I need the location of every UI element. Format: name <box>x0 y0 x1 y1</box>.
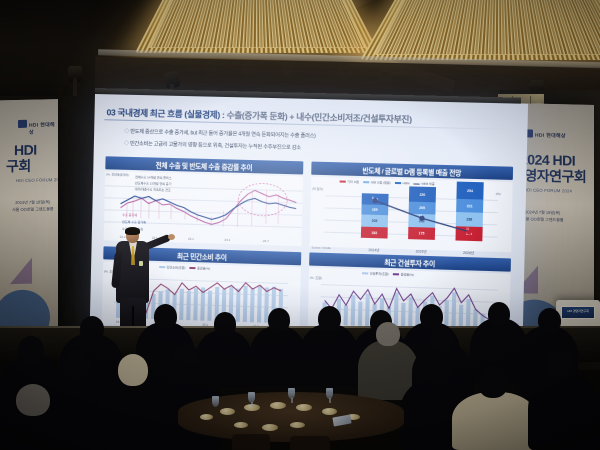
chair-back <box>290 436 330 450</box>
glass-stem <box>329 398 331 403</box>
table-plate <box>322 408 337 415</box>
table-plate <box>234 422 248 428</box>
slide-title-main: 국내경제 최근 흐름 (실물경제) <box>117 108 220 120</box>
legend-swatch-construction-rate <box>393 273 399 275</box>
legend-swatch-consumption-rate <box>189 267 195 269</box>
audience-head <box>430 326 454 352</box>
table-plate <box>262 424 278 431</box>
exports-annotation-1: 수출 증가세 <box>122 213 137 218</box>
audience-head <box>268 308 290 332</box>
audience-head <box>214 312 236 336</box>
slide-title-number: 03 <box>106 107 115 117</box>
audience-head-grey-hair <box>376 322 400 346</box>
conference-room-scene: HDI 현대해상 HDI 구회 HDI CEO FORUM 2024 2024년… <box>0 0 600 450</box>
panel-consumption-title: 최근 민간소비 추이 <box>177 250 227 262</box>
chandelier-left <box>135 0 379 53</box>
series-semiconductor-exports <box>120 187 296 227</box>
chandelier-right-crystals <box>375 0 600 55</box>
panel-dram: 반도체 / 글로벌 D램 등록별 매출 전망 기타 D램 서버 D램 (범용) <box>310 162 514 253</box>
slide-bullet-2-text: 민간소비는 고금리 고물가의 영향 등으로 위축, 건설투자는 누적된 수주부진… <box>130 141 301 151</box>
panel-dram-body: 기타 D램 서버 D램 (범용) HBM HBM 비중 <box>310 177 513 253</box>
glass-stem <box>291 398 293 403</box>
bullet-marker-icon: ◇ <box>124 141 129 147</box>
panel-dram-title: 반도체 / 글로벌 D램 등록별 매출 전망 <box>362 164 461 177</box>
bullet-marker-icon: ◇ <box>124 129 129 135</box>
exports-annotation-2: 반도체 수출 증가폭 <box>122 220 146 225</box>
table-plate <box>296 404 312 411</box>
legend-swatch-construction-amount <box>362 272 368 274</box>
dram-share-label-2026: 21 <box>466 227 469 231</box>
audience-head <box>424 354 452 384</box>
audience-head <box>154 304 177 329</box>
slide-bullet-1-text: 반도체 증산으로 수출 증가세, but 최근 들어 증가율은 4개월 연속 둔… <box>130 129 316 140</box>
audience-head <box>318 306 341 331</box>
glass-stem <box>251 402 253 407</box>
exports-highlight-ellipse <box>238 183 287 217</box>
dram-hbm-share-line <box>310 177 513 254</box>
table-plate <box>220 408 235 415</box>
audience-head <box>172 344 200 374</box>
exports-volatility-bars <box>126 186 279 228</box>
slide-bullet-1: ◇ 반도체 증산으로 수출 증가세, but 최근 들어 증가율은 4개월 연속… <box>124 128 316 140</box>
presenter-name-badge <box>139 261 143 266</box>
water-glass <box>212 396 219 407</box>
series-total-exports <box>120 195 296 222</box>
audience-head <box>546 350 574 380</box>
dram-share-label-2025: 14 <box>419 213 422 217</box>
table-plate <box>290 422 305 428</box>
dram-share-label-2024: 8 <box>372 196 374 200</box>
audience-head <box>80 316 104 342</box>
slide-bullet-2: ◇ 민간소비는 고금리 고물가의 영향 등으로 위축, 건설투자는 누적된 수주… <box>124 140 301 151</box>
table-plate <box>270 402 286 409</box>
audience-head-white-hair <box>16 384 50 416</box>
audience-member <box>300 324 358 386</box>
presenter-hair <box>125 227 140 235</box>
audience-member-light-jacket <box>452 392 538 450</box>
presenter-hand <box>168 234 175 240</box>
audience-head <box>18 336 44 364</box>
chandelier-left-crystals <box>149 0 365 48</box>
panel-exports-title: 전체 수출 및 반도체 수출 증감률 추이 <box>156 159 253 172</box>
table-plate <box>200 414 213 420</box>
audience-head <box>488 302 510 326</box>
chandelier-right <box>360 0 600 60</box>
audience-member <box>250 326 306 386</box>
audience-head <box>478 366 508 398</box>
audience-head <box>538 308 561 333</box>
panel-construction-title: 최근 건설투자 추이 <box>384 256 435 268</box>
audience-member <box>528 374 600 450</box>
audience-head <box>62 350 90 380</box>
dram-source: Source: Omdia <box>312 245 331 250</box>
chair-back <box>232 434 270 450</box>
audience-head-blond <box>118 354 148 386</box>
